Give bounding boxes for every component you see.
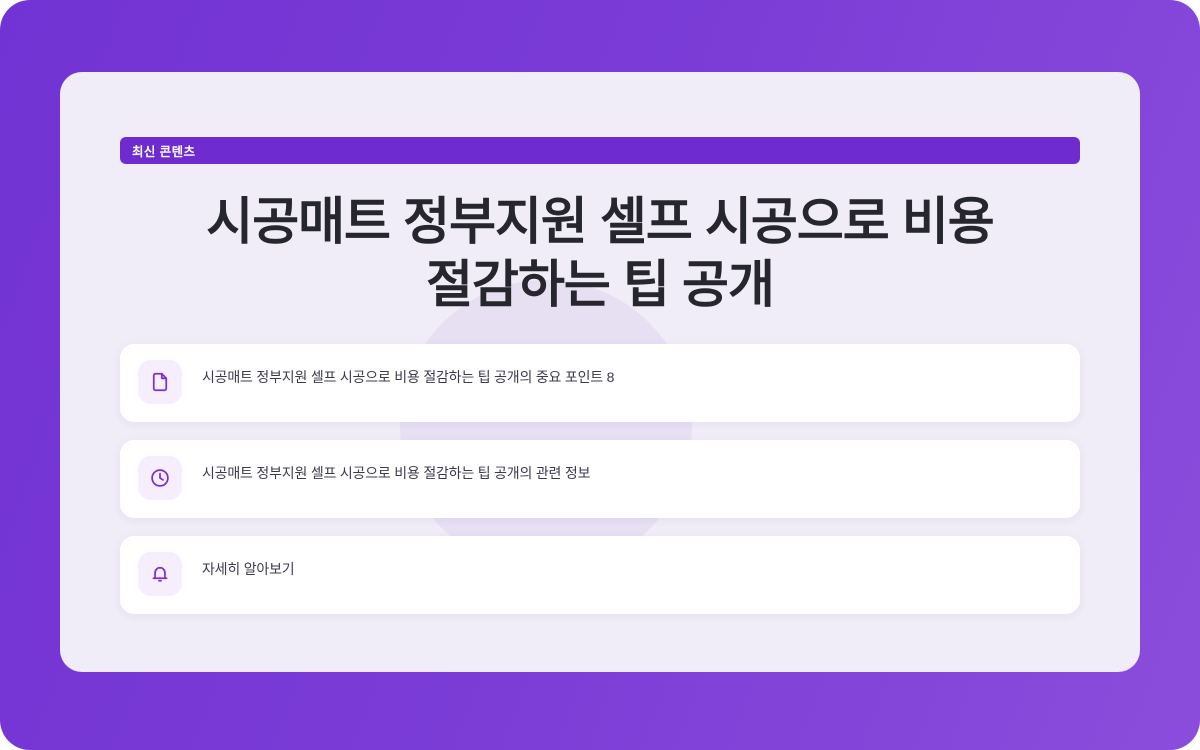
content-card-list: 시공매트 정부지원 셀프 시공으로 비용 절감하는 팁 공개의 중요 포인트 8… (120, 344, 1080, 614)
page-title: 시공매트 정부지원 셀프 시공으로 비용 절감하는 팁 공개 (120, 190, 1080, 316)
clock-icon-tile (138, 456, 182, 500)
list-item-label: 시공매트 정부지원 셀프 시공으로 비용 절감하는 팁 공개의 관련 정보 (202, 464, 590, 484)
latest-content-badge-label: 최신 콘텐츠 (132, 141, 195, 160)
document-icon (149, 371, 171, 393)
content-card-stage: 최신 콘텐츠 시공매트 정부지원 셀프 시공으로 비용 절감하는 팁 공개 시공… (0, 0, 1200, 750)
list-item-label: 시공매트 정부지원 셀프 시공으로 비용 절감하는 팁 공개의 중요 포인트 8 (202, 368, 614, 388)
panel-inner: 최신 콘텐츠 시공매트 정부지원 셀프 시공으로 비용 절감하는 팁 공개 시공… (60, 72, 1140, 672)
list-item-label: 자세히 알아보기 (202, 560, 294, 580)
clock-icon (149, 467, 171, 489)
bell-icon-tile (138, 552, 182, 596)
document-icon-tile (138, 360, 182, 404)
list-item[interactable]: 시공매트 정부지원 셀프 시공으로 비용 절감하는 팁 공개의 중요 포인트 8 (120, 344, 1080, 422)
latest-content-badge-bar: 최신 콘텐츠 (120, 137, 1080, 164)
content-panel: 최신 콘텐츠 시공매트 정부지원 셀프 시공으로 비용 절감하는 팁 공개 시공… (60, 72, 1140, 672)
bell-icon (149, 563, 171, 585)
list-item[interactable]: 시공매트 정부지원 셀프 시공으로 비용 절감하는 팁 공개의 관련 정보 (120, 440, 1080, 518)
list-item[interactable]: 자세히 알아보기 (120, 536, 1080, 614)
